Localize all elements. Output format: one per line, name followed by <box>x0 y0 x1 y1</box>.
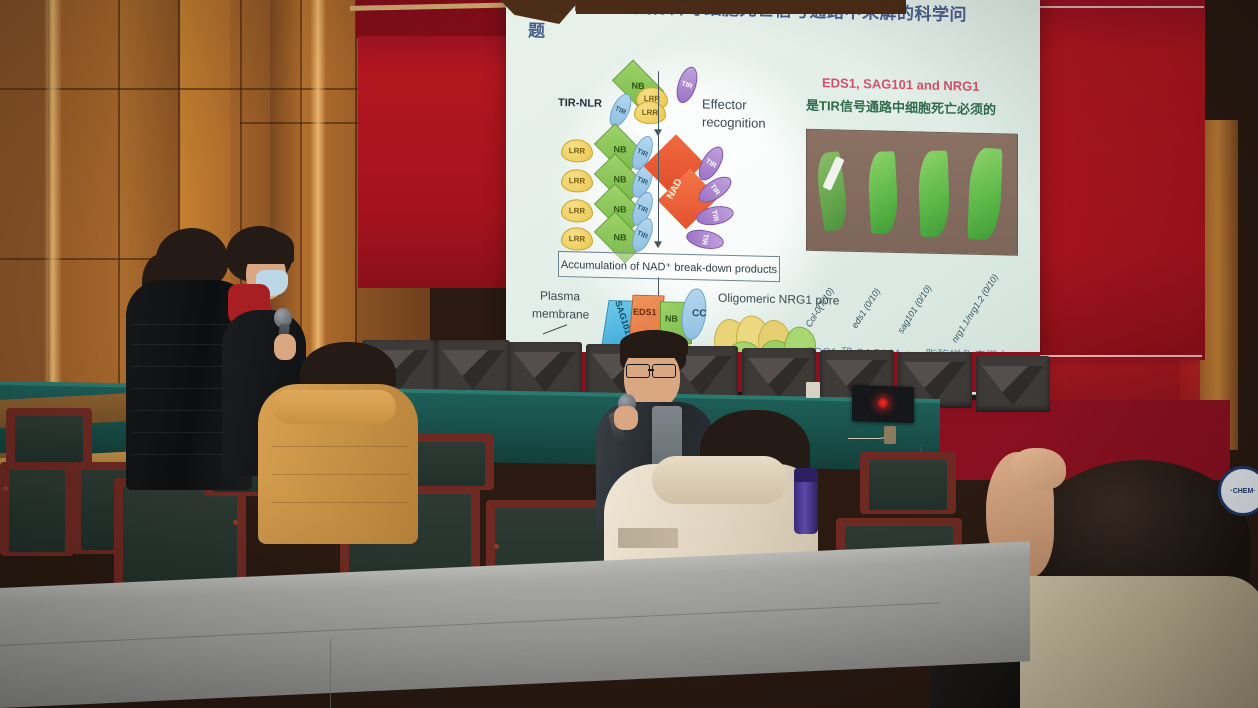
flow-arrow-shaft <box>658 135 659 245</box>
leaf-label-eds1: eds1 (0/10) <box>850 286 883 330</box>
seated-woman-tan-coat <box>252 336 432 536</box>
eyeglasses-bridge <box>648 369 654 371</box>
hair-front <box>620 330 688 358</box>
right-heading-en: EDS1, SAG101 and NRG1 <box>822 75 980 94</box>
paper-cup <box>806 382 820 398</box>
effector-recognition-line1: Effector <box>702 96 747 112</box>
lrr-label: LRR <box>569 206 585 215</box>
flow-arrow-shaft <box>658 71 659 131</box>
plasma-membrane-line1: Plasma <box>540 289 580 304</box>
laptop-logo-icon <box>878 398 888 408</box>
fur-collar <box>652 456 788 504</box>
right-heading-cn: 是TIR信号通路中细胞死亡必须的 <box>806 95 996 118</box>
tir-label: TIR <box>701 233 710 245</box>
seminar-room-photo: 植物TIR-NLR受体介导细胞死亡信号通路中未解的科学问 题 NB LRR LR… <box>0 0 1258 708</box>
tir-label: TIR <box>704 158 717 170</box>
stage-chair <box>436 340 510 396</box>
effector-recognition-line2: recognition <box>702 114 766 130</box>
leaf-eds1 <box>867 151 899 234</box>
tir-label: TIR <box>681 80 694 90</box>
screen-top-occlusion <box>576 0 906 14</box>
tir-nlr-label: TIR-NLR <box>558 97 602 110</box>
leaf-nrg1 <box>967 147 1002 241</box>
curtain-seam <box>1030 355 1202 357</box>
pointer-line <box>543 324 567 334</box>
auditorium-seat[interactable] <box>0 462 74 556</box>
tir-label: TIR <box>636 203 649 214</box>
tir-label: TIR <box>709 183 721 196</box>
red-curtain-right <box>1030 0 1205 360</box>
hair-front <box>242 230 294 264</box>
lrr-label: LRR <box>569 234 585 243</box>
tir-label: TIR <box>636 147 649 158</box>
cc-label: CC <box>692 308 706 319</box>
lrr-label: LRR <box>569 146 585 155</box>
lrr-label: LRR <box>642 108 658 117</box>
desk-seam <box>330 638 331 708</box>
coat-print <box>618 528 678 548</box>
lrr-domain-shape: LRR <box>634 101 666 125</box>
tir-label: TIR <box>710 209 719 221</box>
tir-label: TIR <box>614 105 627 116</box>
jacket-hood <box>272 390 396 424</box>
red-banner-left <box>358 36 508 288</box>
plasma-membrane-line2: membrane <box>532 306 589 321</box>
curtain-seam <box>1032 6 1204 8</box>
leaf-sag101 <box>918 151 951 237</box>
lrr-domain-shape: LRR <box>561 169 593 193</box>
flow-arrow-head <box>654 241 662 248</box>
lrr-label: LRR <box>569 176 585 185</box>
tir-label: TIR <box>636 229 649 240</box>
nb-label: NB <box>665 313 678 323</box>
leaf-label-nrg1: nrg1.1/nrg1.2 (0/10) <box>950 272 1001 344</box>
leaf-photo-panel <box>806 129 1018 256</box>
eyeglasses-right-lens <box>652 364 676 378</box>
lrr-domain-shape: LRR <box>561 199 593 223</box>
eyeglasses-left-lens <box>626 364 650 378</box>
fingers <box>1012 448 1066 490</box>
bottle-cap <box>794 468 818 482</box>
leaf-label-sag101: sag101 (0/10) <box>896 283 934 335</box>
stage-chair <box>508 342 582 398</box>
auditorium-seat[interactable] <box>6 408 92 468</box>
lrr-domain-shape: LRR <box>561 139 593 163</box>
nad-accumulation-box: Accumulation of NAD⁺ break-down products <box>558 251 780 282</box>
tir-label: TIR <box>636 175 649 186</box>
projection-screen: 植物TIR-NLR受体介导细胞死亡信号通路中未解的科学问 题 NB LRR LR… <box>506 0 1040 396</box>
eds1-label: EDS1 <box>633 307 657 318</box>
lrr-domain-shape: LRR <box>561 227 593 251</box>
